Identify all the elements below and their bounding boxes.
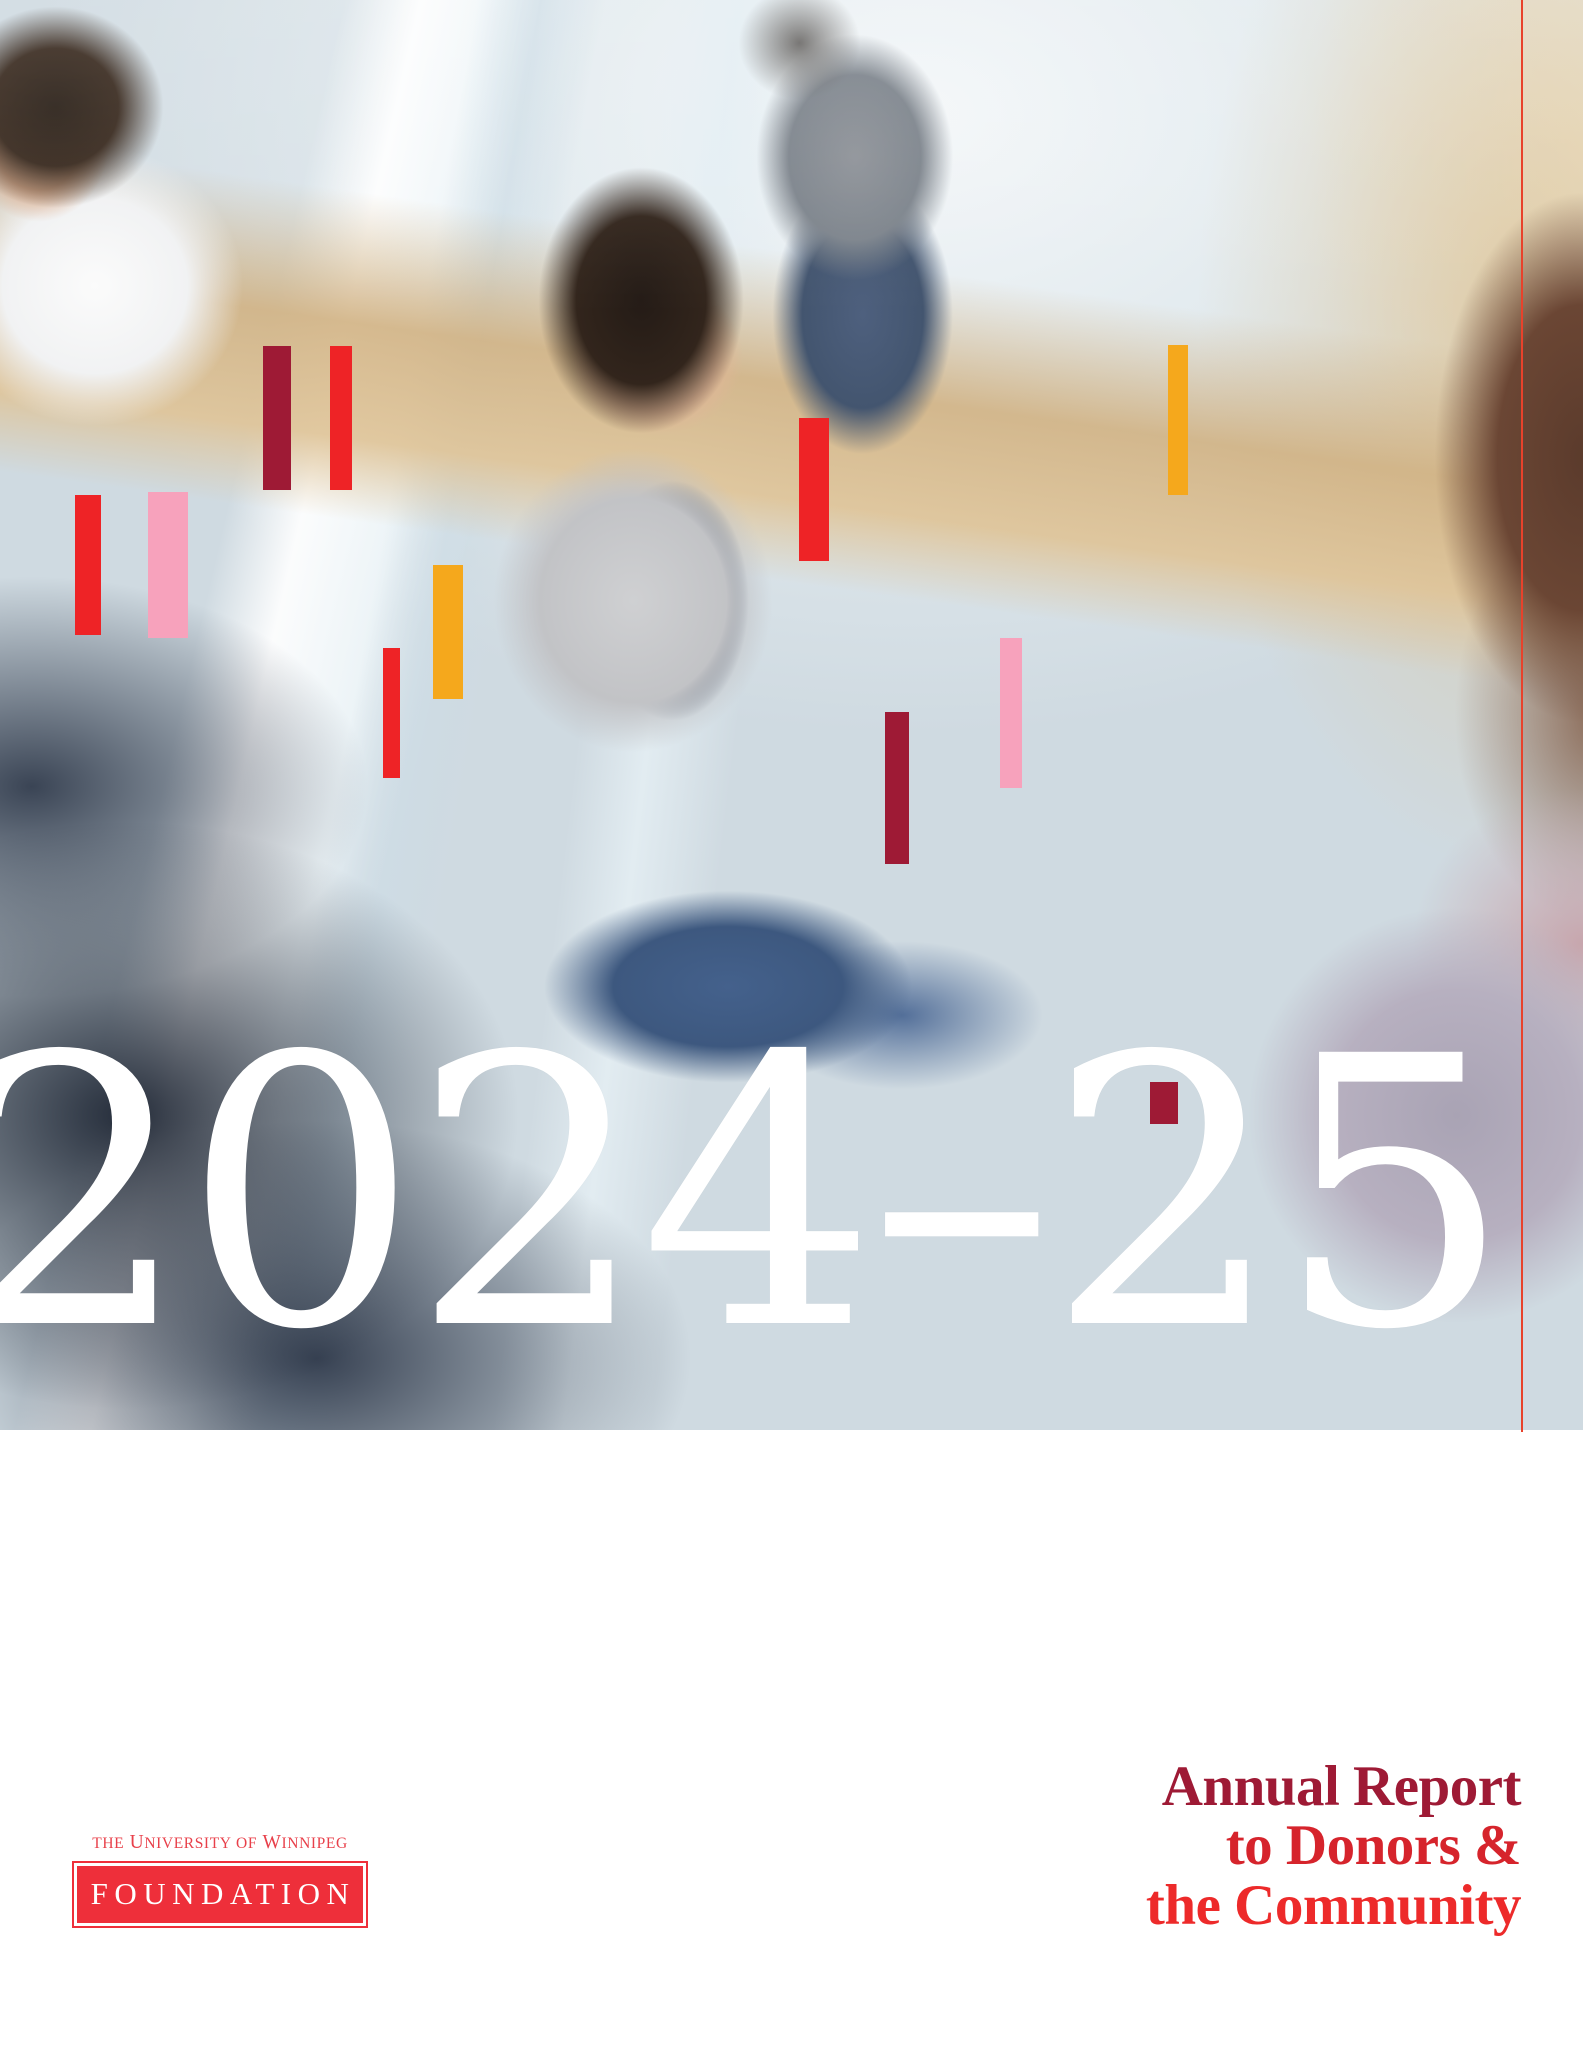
report-cover: 2024–25 Annual Report to Donors & the Co… [0,0,1583,2048]
uw-foundation-logo: THE UNIVERSITY OF WINNIPEG FOUNDATION [72,1832,368,1928]
bar-red-4 [799,418,829,561]
cover-title-line-1: Annual Report [1146,1757,1521,1816]
logo-word-university-u: U [124,1832,144,1853]
bar-maroon-2 [885,712,909,864]
bar-red-3 [383,648,400,778]
bar-pink-2 [1000,638,1022,788]
cover-year: 2024–25 [0,1035,1583,1355]
bar-maroon-1 [263,346,291,490]
cover-title-line-3: the Community [1146,1876,1521,1935]
logo-wordmark: FOUNDATION [77,1876,363,1912]
logo-university-line: THE UNIVERSITY OF WINNIPEG [72,1832,368,1854]
bar-red-1 [330,346,352,490]
bar-red-2 [75,495,101,635]
logo-box: FOUNDATION [72,1861,368,1928]
logo-word-winnipeg-w: W [257,1832,281,1853]
cover-title: Annual Report to Donors & the Community [1146,1757,1521,1935]
logo-box-inner: FOUNDATION [77,1866,363,1923]
logo-word-university-rest: NIVERSITY [144,1835,231,1852]
bar-gold-1 [433,565,463,699]
logo-word-winnipeg-rest: INNIPEG [282,1835,348,1852]
logo-word-the: THE [92,1835,124,1852]
bar-pink-1 [148,492,188,638]
bar-gold-2 [1168,345,1188,495]
cover-title-line-2: to Donors & [1146,1816,1521,1875]
logo-word-of: OF [232,1835,258,1852]
